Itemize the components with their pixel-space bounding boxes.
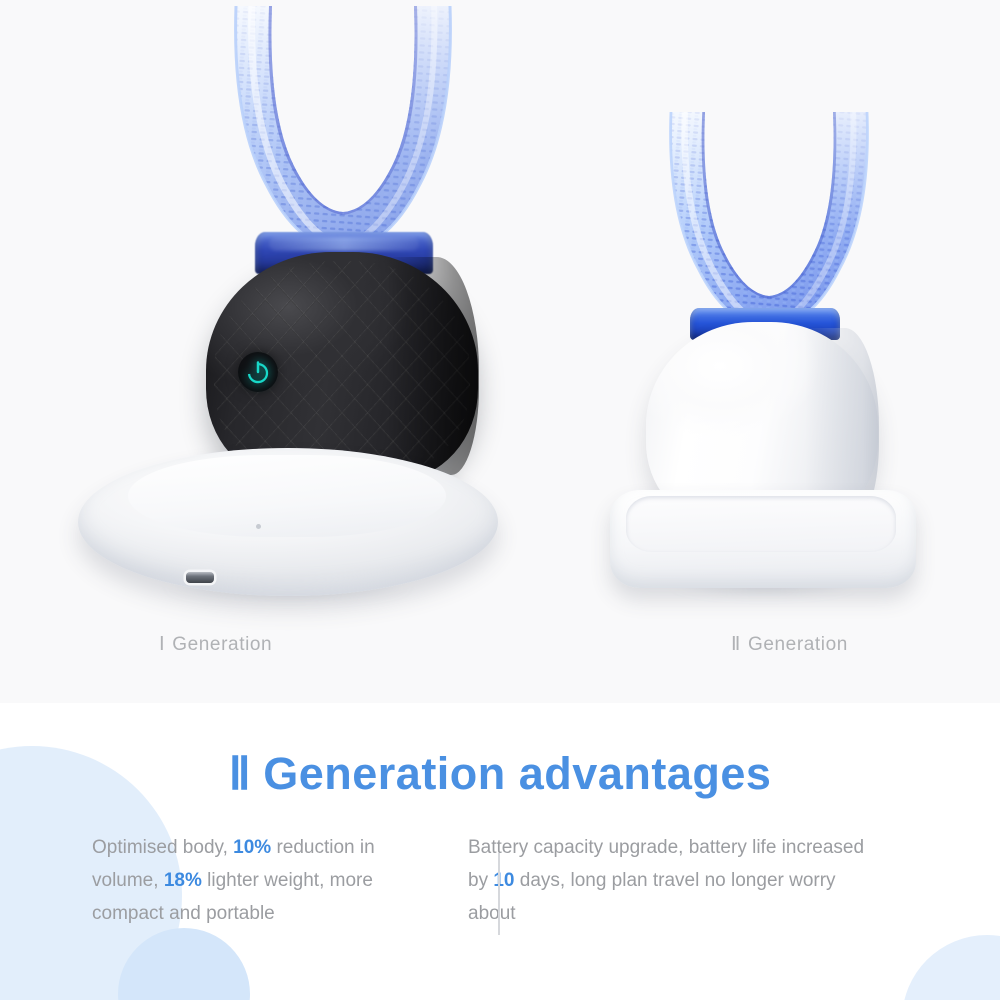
advantages-columns: Optimised body, 10% reduction in volume,… <box>0 831 1000 971</box>
advantage-text-segment: Optimised body, <box>92 837 233 858</box>
advantages-title-numeral: Ⅱ <box>229 749 252 799</box>
advantage-text-body-optimisation: Optimised body, 10% reduction in volume,… <box>0 831 410 971</box>
charging-dock-surface-generation-1 <box>128 455 446 537</box>
product-showcase-section: ⅠGeneration ⅡGeneration <box>0 0 1000 703</box>
advantage-text-battery-upgrade: Battery capacity upgrade, battery life i… <box>410 831 870 971</box>
advantages-section: ⅡGeneration advantages Optimised body, 1… <box>0 703 1000 1000</box>
dock-indicator-led-generation-1 <box>256 524 261 529</box>
page-root: ⅠGeneration ⅡGeneration ⅡGeneration adva… <box>0 0 1000 1000</box>
advantage-highlight-value: 10 <box>493 870 514 891</box>
brush-head-generation-2 <box>655 108 883 340</box>
brush-head-generation-1 <box>218 2 468 264</box>
advantages-title-text: Generation advantages <box>263 748 771 799</box>
product-generation-1 <box>70 0 510 620</box>
advantage-highlight-value: 18% <box>164 870 202 891</box>
caption-generation-1: ⅠGeneration <box>159 633 272 656</box>
caption-numeral-generation-1: Ⅰ <box>159 634 165 655</box>
charging-dock-surface-generation-2 <box>626 496 896 552</box>
caption-label-generation-1: Generation <box>172 634 272 655</box>
advantage-text-segment: days, long plan travel no longer worry a… <box>468 870 836 924</box>
advantages-title: ⅡGeneration advantages <box>0 747 1000 800</box>
usb-charging-port-generation-1 <box>186 572 214 583</box>
caption-generation-2: ⅡGeneration <box>731 633 848 656</box>
power-button-generation-1[interactable] <box>238 352 278 392</box>
product-generation-2 <box>600 100 940 600</box>
caption-numeral-generation-2: Ⅱ <box>731 634 741 655</box>
advantage-highlight-value: 10% <box>233 837 271 858</box>
caption-label-generation-2: Generation <box>748 634 848 655</box>
column-divider <box>498 853 500 935</box>
